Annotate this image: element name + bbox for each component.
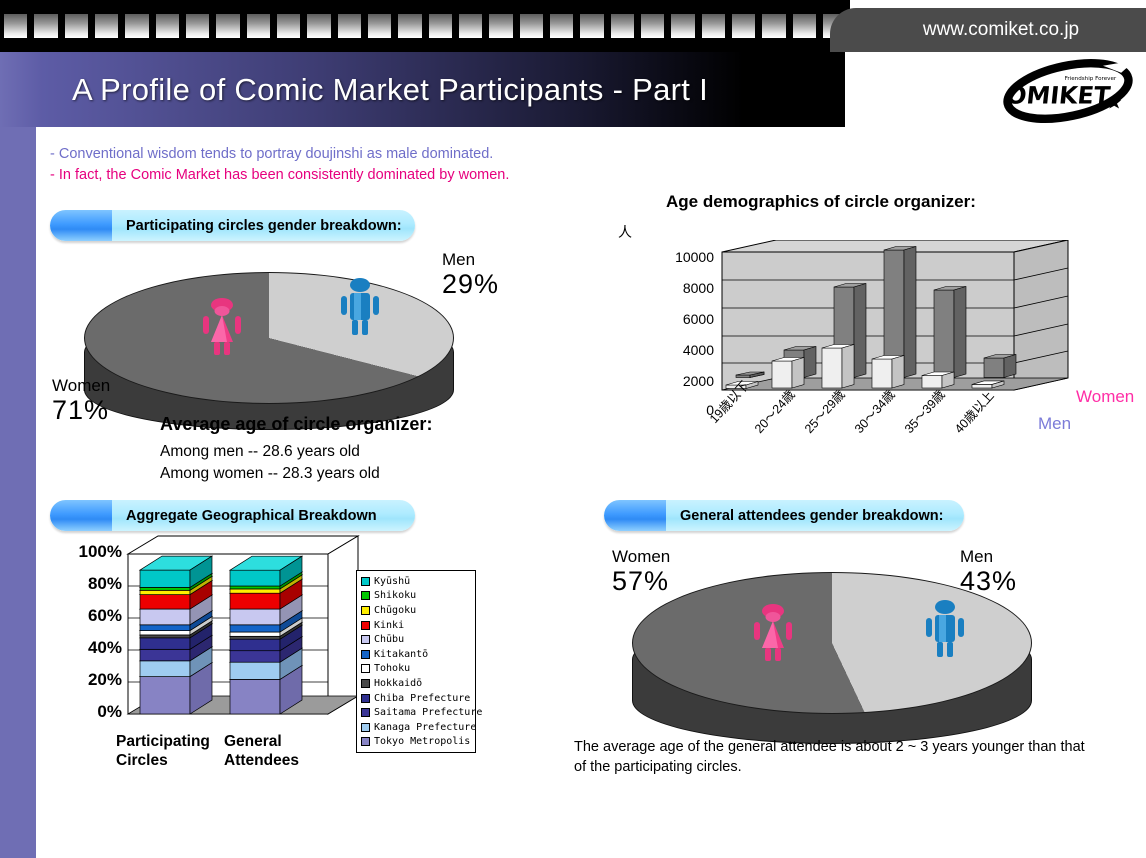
geo-category-participating-circles: Participating Circles [116,732,226,770]
man-figure-icon [337,276,383,341]
legend-item: Chiba Prefecture [361,691,471,706]
website-url-banner: www.comiket.co.jp [830,8,1146,52]
age-demographics-chart: Age demographics of circle organizer: 人 … [606,192,1146,522]
geo-category-general-attendees: General Attendees [224,732,334,770]
legend-swatch-tokyo [361,737,370,746]
legend-item: Kanaga Prefecture [361,720,471,735]
pill-cap-icon [50,210,112,241]
average-age-women: Among women -- 28.3 years old [160,463,432,485]
legend-label: Tohoku [374,663,410,674]
average-age-heading: Average age of circle organizer: [160,414,432,435]
svg-text:Friendship Forever: Friendship Forever [1065,76,1117,82]
circles-pie-women-label: Women 71% [52,376,110,425]
women-percent: 57% [612,566,670,596]
legend-label: Tokyo Metropolis [374,736,470,747]
pill-participating-circles-gender: Participating circles gender breakdown: [50,210,415,241]
geo-ytick-40: 40% [56,638,122,658]
legend-item: Tohoku [361,662,471,677]
legend-item: Saitama Prefecture [361,705,471,720]
svg-text:OMIKET: OMIKET [1005,82,1112,110]
pill-general-attendees-gender: General attendees gender breakdown: [604,500,964,531]
women-label: Women [52,376,110,395]
bullet-1: - Conventional wisdom tends to portray d… [50,144,509,165]
age-ytick-6000: 6000 [606,311,714,327]
geo-ytick-0: 0% [56,702,122,722]
men-label: Men [960,547,1017,566]
intro-bullets: - Conventional wisdom tends to portray d… [50,144,509,186]
geo-bar-general-attendees [230,556,302,714]
men-percent: 43% [960,566,1017,596]
legend-label: Kanaga Prefecture [374,722,476,733]
age-legend-women: Women [1076,387,1134,407]
geo-cat1-line1: Participating [116,732,226,751]
age-chart-unit-label: 人 [618,222,632,242]
geo-ytick-20: 20% [56,670,122,690]
legend-swatch-saitama [361,708,370,717]
pie-top-surface [84,272,454,404]
film-strip-decoration [0,0,850,52]
left-purple-rail [0,52,36,858]
geo-cat2-line2: Attendees [224,751,334,770]
website-url-text: www.comiket.co.jp [923,19,1079,41]
geo-cat1-line2: Circles [116,751,226,770]
legend-item: Kyūshū [361,574,471,589]
legend-label: Shikoku [374,590,416,601]
men-percent: 29% [442,269,499,299]
men-label: Men [442,250,499,269]
circles-pie-men-label: Men 29% [442,250,499,299]
legend-swatch-kinki [361,621,370,630]
legend-item: Hokkaidō [361,676,471,691]
attendees-gender-pie-chart [632,572,1032,762]
attendees-pie-men-label: Men 43% [960,547,1017,596]
age-ytick-0: 0 [606,402,714,418]
pill-label: General attendees gender breakdown: [666,508,958,524]
geo-ytick-60: 60% [56,606,122,626]
legend-swatch-shikoku [361,591,370,600]
legend-label: Chūbu [374,634,404,645]
legend-item: Tokyo Metropolis [361,735,471,750]
legend-label: Saitama Prefecture [374,707,482,718]
bullet-2: - In fact, the Comic Market has been con… [50,165,509,186]
legend-swatch-chubu [361,635,370,644]
legend-item: Kitakantō [361,647,471,662]
legend-label: Chiba Prefecture [374,693,470,704]
pill-label: Aggregate Geographical Breakdown [112,508,391,524]
woman-figure-icon [750,602,796,667]
legend-label: Hokkaidō [374,678,422,689]
legend-swatch-chugoku [361,606,370,615]
legend-label: Kinki [374,620,404,631]
geographical-stacked-bar-chart: 100% 80% 60% 40% 20% 0% [56,542,396,787]
age-ytick-10000: 10000 [606,249,714,265]
legend-label: Chūgoku [374,605,416,616]
age-ytick-4000: 4000 [606,342,714,358]
geo-ytick-100: 100% [56,542,122,562]
legend-swatch-chiba [361,694,370,703]
page-title: A Profile of Comic Market Participants -… [72,72,708,108]
attendee-age-note: The average age of the general attendee … [574,737,1094,777]
geo-ytick-80: 80% [56,574,122,594]
average-age-men: Among men -- 28.6 years old [160,441,432,463]
legend-item: Kinki [361,618,471,633]
pill-cap-icon [50,500,112,531]
age-ytick-2000: 2000 [606,373,714,389]
film-strip-holes [4,14,846,38]
average-age-block: Average age of circle organizer: Among m… [160,414,432,485]
woman-figure-icon [199,296,245,361]
geo-bar-participating-circles [140,556,212,714]
age-plot-area [714,240,1084,420]
women-label: Women [612,547,670,566]
comiket-logo: OMIKET Friendship Forever [998,56,1138,126]
attendees-pie-women-label: Women 57% [612,547,670,596]
geo-cat2-line1: General [224,732,334,751]
slide-title-bar: A Profile of Comic Market Participants -… [0,52,845,127]
pill-cap-icon [604,500,666,531]
legend-item: Shikoku [361,589,471,604]
legend-swatch-kanaga [361,723,370,732]
legend-label: Kitakantō [374,649,428,660]
man-figure-icon [922,598,968,663]
slide-body: - Conventional wisdom tends to portray d… [36,127,1146,858]
legend-swatch-hokkaido [361,679,370,688]
pill-aggregate-geographical-breakdown: Aggregate Geographical Breakdown [50,500,415,531]
women-percent: 71% [52,395,110,425]
legend-label: Kyūshū [374,576,410,587]
legend-swatch-kyushu [361,577,370,586]
age-ytick-8000: 8000 [606,280,714,296]
legend-swatch-tohoku [361,664,370,673]
legend-swatch-kitakanto [361,650,370,659]
legend-item: Chūbu [361,632,471,647]
pill-label: Participating circles gender breakdown: [112,218,415,234]
geo-legend: Kyūshū Shikoku Chūgoku Kinki Chūbu Kitak… [356,570,476,753]
age-legend-men: Men [1038,414,1071,434]
age-chart-title: Age demographics of circle organizer: [666,192,976,212]
legend-item: Chūgoku [361,603,471,618]
